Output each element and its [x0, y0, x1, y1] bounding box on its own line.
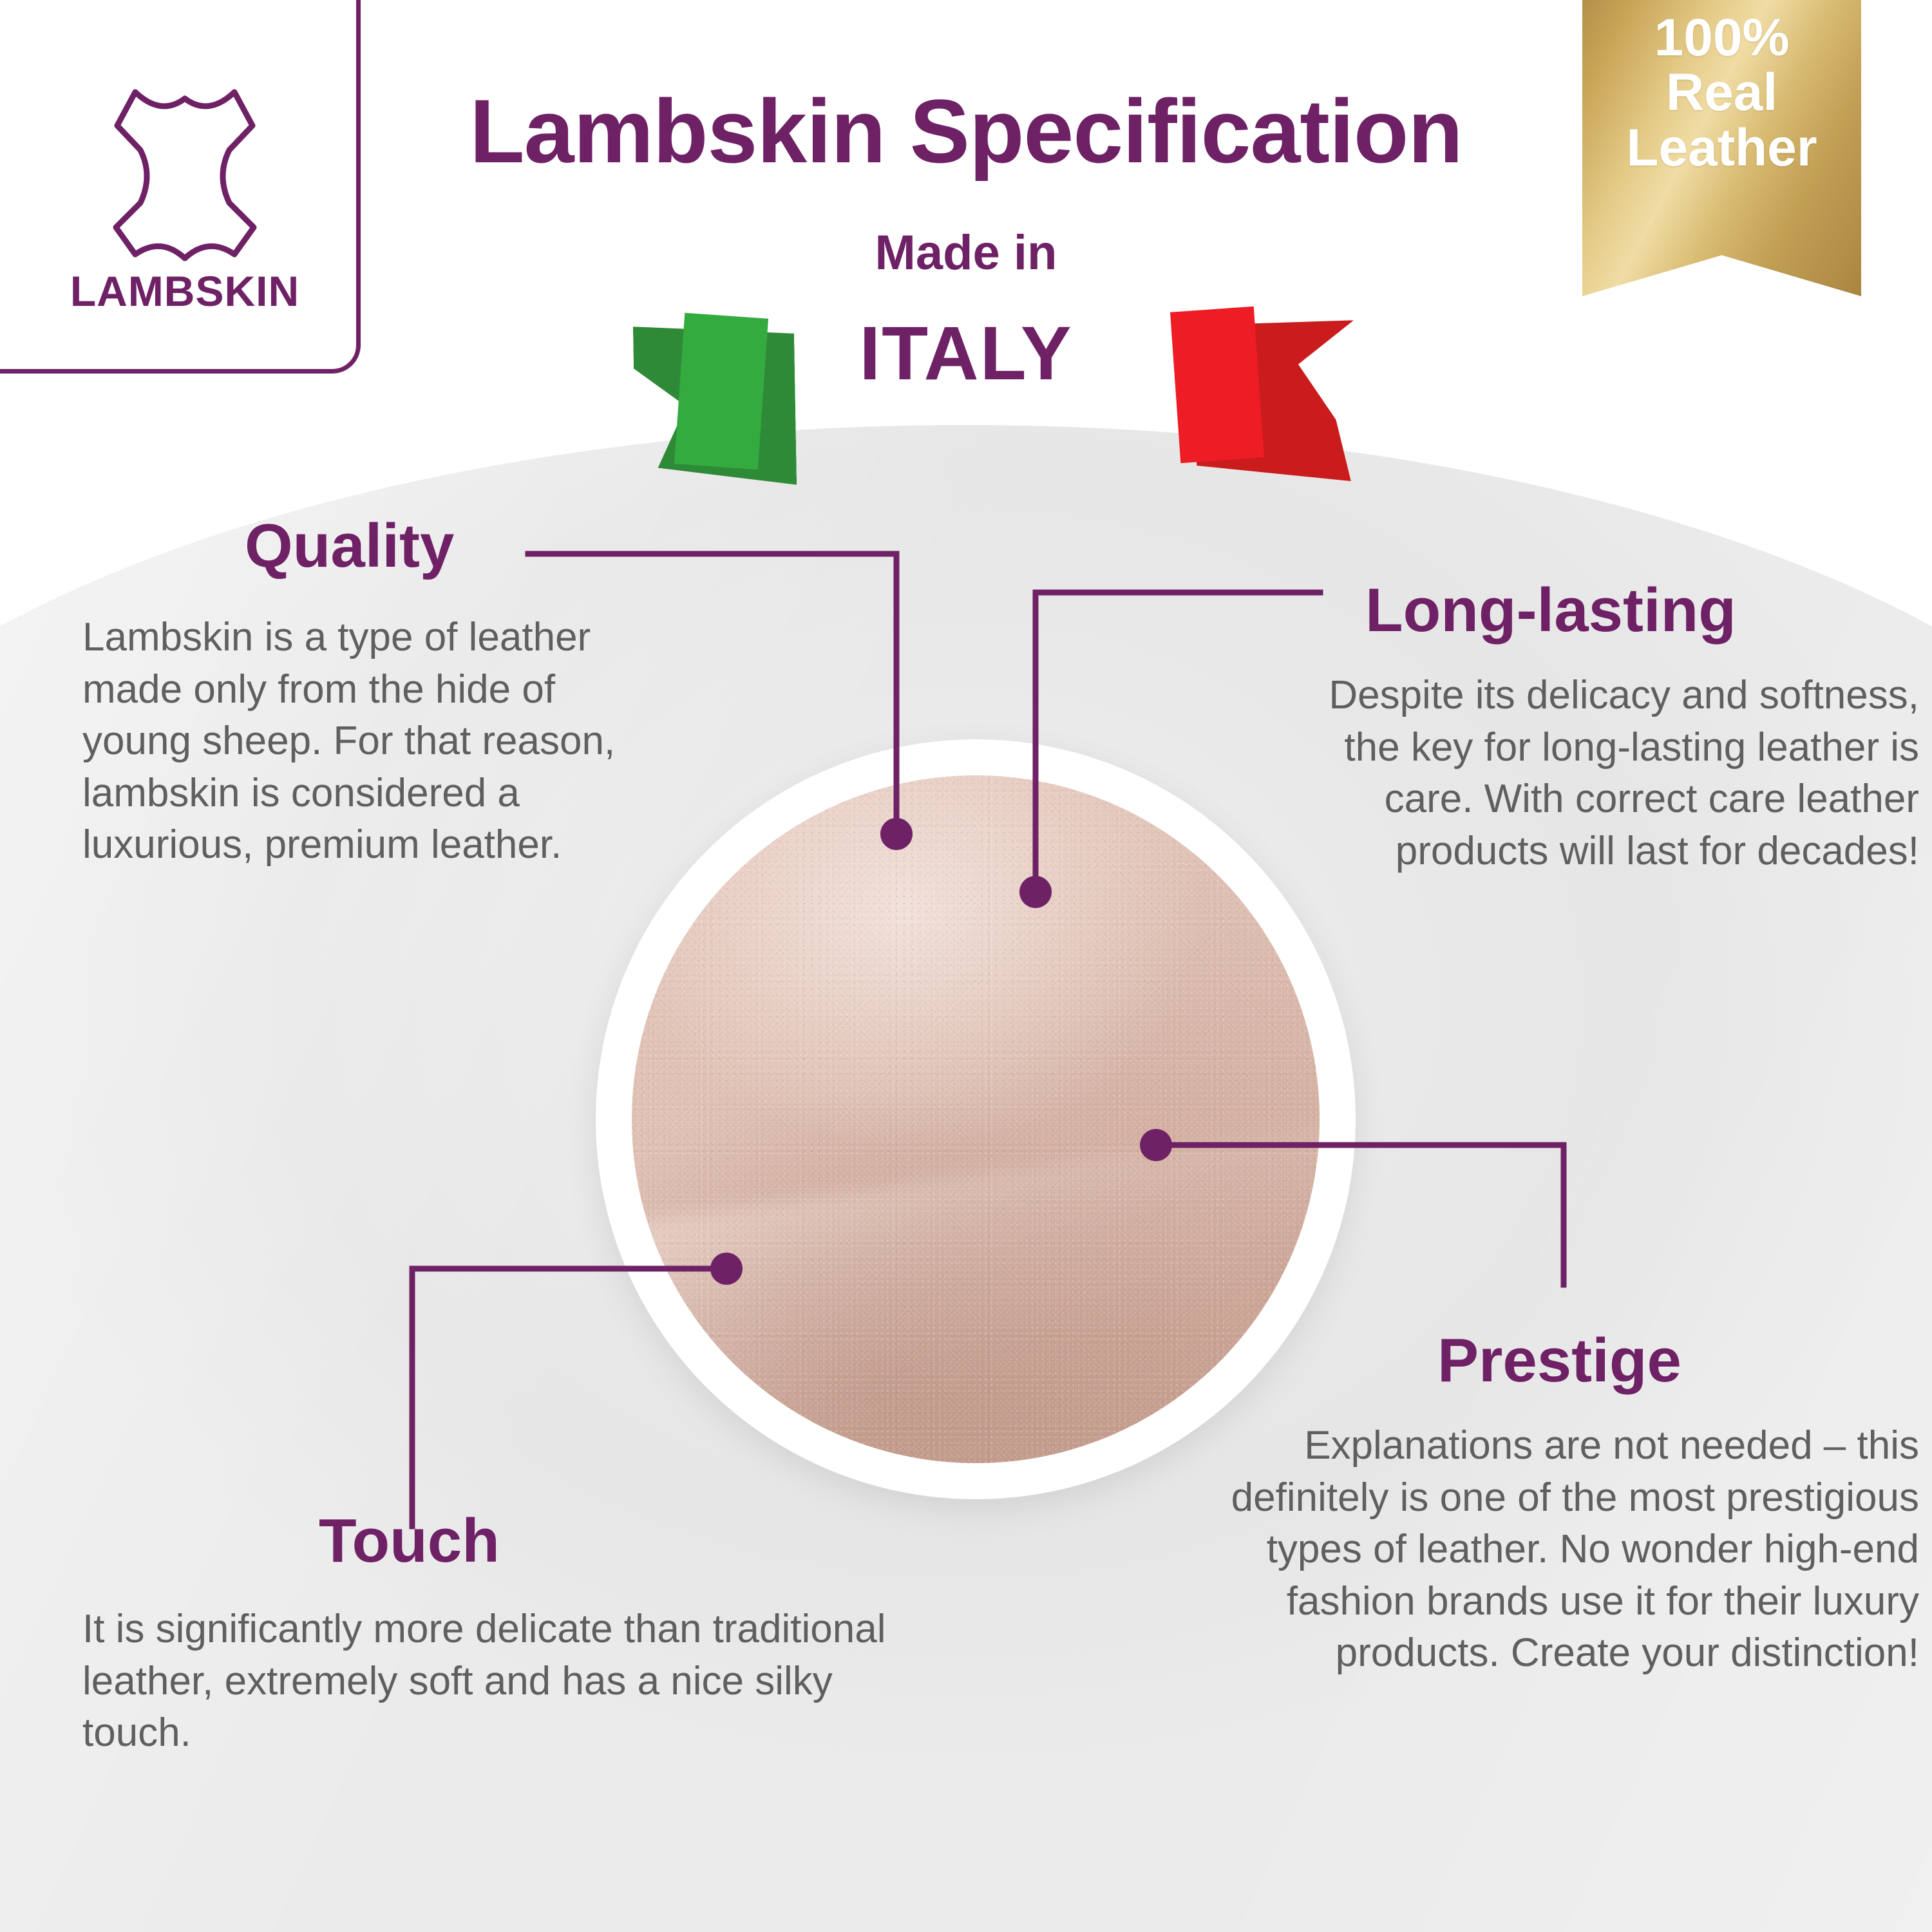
logo-wordmark: LAMBSKIN	[70, 270, 299, 312]
leather-hide-icon	[79, 70, 291, 263]
leather-grain-overlay	[632, 775, 1320, 1463]
badge-real: Real	[1666, 65, 1777, 120]
infographic-canvas: LAMBSKIN Lambskin Specification Made in …	[0, 0, 1932, 1932]
feature-heading-long-lasting: Long-lasting	[1365, 580, 1736, 641]
feature-body-touch: It is significantly more delicate than t…	[82, 1604, 933, 1759]
feature-heading-touch: Touch	[319, 1510, 500, 1572]
made-in-label: Made in	[419, 229, 1513, 278]
badge-leather: Leather	[1626, 120, 1817, 175]
badge-percent: 100%	[1654, 10, 1790, 65]
real-leather-badge: 100% Real Leather	[1582, 0, 1861, 296]
feature-heading-quality: Quality	[245, 515, 454, 577]
italy-flag-green-band	[674, 313, 768, 469]
logo-box: LAMBSKIN	[0, 0, 361, 374]
leather-texture	[632, 775, 1320, 1463]
feature-body-long-lasting: Despite its delicacy and softness, the k…	[1301, 670, 1919, 877]
feature-heading-prestige: Prestige	[1437, 1330, 1681, 1392]
feature-body-quality: Lambskin is a type of leather made only …	[82, 612, 662, 871]
feature-body-prestige: Explanations are not needed – this defin…	[1159, 1420, 1919, 1680]
italy-flag-red-band	[1170, 307, 1264, 463]
leather-swatch-circle	[596, 739, 1356, 1499]
page-title: Lambskin Specification	[419, 84, 1513, 178]
logo-content: LAMBSKIN	[5, 5, 365, 378]
country-label: ITALY	[419, 316, 1513, 392]
